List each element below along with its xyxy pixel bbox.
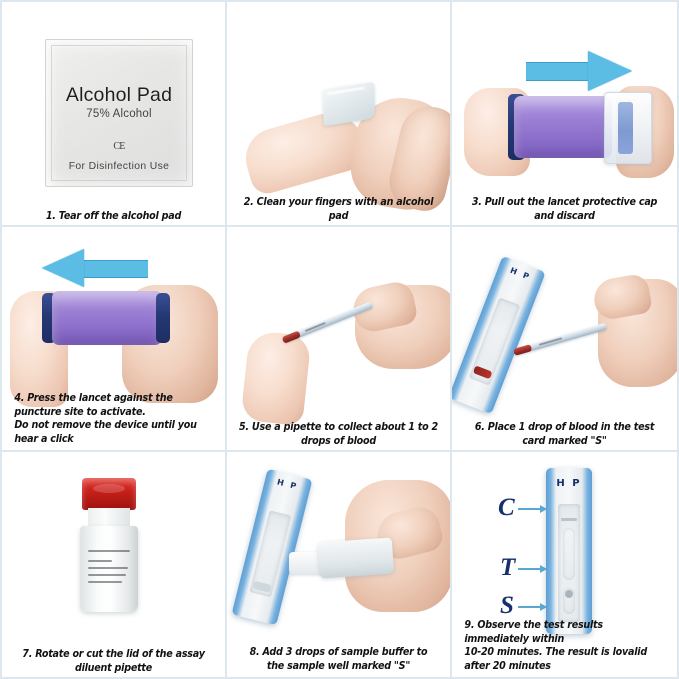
panel-9-caption-line1: 9. Observe the test results immediately … bbox=[464, 620, 602, 645]
instruction-sheet: Alcohol Pad 75% Alcohol CE For Disinfect… bbox=[0, 0, 679, 679]
panel-step-2: 2. Clean your fingers with an alcohol pa… bbox=[227, 2, 452, 227]
pipette-fill-line bbox=[539, 337, 563, 346]
sample-zone-label: S bbox=[500, 592, 514, 620]
packet-brand-text: Alcohol Pad bbox=[46, 84, 192, 107]
panel-step-8: H P 8. Add 3 drops of sample buffer to t… bbox=[227, 452, 452, 677]
panel-3-illustration bbox=[452, 2, 677, 183]
panel-step-9: H P C T S 9. Observe the test results im… bbox=[452, 452, 677, 677]
panel-8-illustration: H P bbox=[227, 452, 450, 623]
panel-step-4: 4. Press the lancet against the puncture… bbox=[2, 227, 227, 452]
lancet-body bbox=[514, 96, 612, 158]
test-zone-arrow bbox=[518, 568, 546, 570]
panel-8-caption-line1: 8. Add 3 drops of sample buffer to bbox=[250, 647, 428, 658]
panel-step-5: 5. Use a pipette to collect about 1 to 2… bbox=[227, 227, 452, 452]
buffer-bottle-body bbox=[318, 537, 394, 578]
cassette-brand-label: H P bbox=[264, 474, 311, 494]
panel-9-caption-line2: 10-20 minutes. The result is lovalid aft… bbox=[464, 647, 647, 672]
sample-zone-arrow bbox=[518, 606, 546, 608]
panel-4-caption-line2: Do not remove the device until you hear … bbox=[14, 420, 196, 445]
panel-8-caption-line2: the sample well marked "S" bbox=[267, 661, 410, 672]
test-zone-label: T bbox=[500, 554, 515, 582]
lancet-protective-cap bbox=[604, 92, 652, 164]
lancet-end-cap-right bbox=[156, 293, 170, 343]
panel-6-caption: 6. Place 1 drop of blood in the test car… bbox=[459, 421, 671, 448]
bottle-label-line bbox=[88, 550, 130, 552]
panel-step-3: 3. Pull out the lancet protective cap an… bbox=[452, 2, 677, 227]
panel-5-illustration bbox=[227, 227, 450, 408]
bottle-label-line bbox=[88, 560, 112, 562]
pipette-fill-line bbox=[305, 322, 326, 332]
alcohol-pad-packet: Alcohol Pad 75% Alcohol CE For Disinfect… bbox=[45, 39, 193, 187]
panel-2-illustration bbox=[227, 2, 450, 183]
pull-right-arrow bbox=[526, 50, 636, 90]
assay-diluent-bottle bbox=[2, 452, 225, 635]
test-cassette: H P bbox=[546, 468, 592, 634]
test-line-region bbox=[563, 528, 575, 580]
packet-usage-text: For Disinfection Use bbox=[46, 161, 192, 172]
panel-3-caption: 3. Pull out the lancet protective cap an… bbox=[459, 196, 671, 223]
panel-7-caption: 7. Rotate or cut the lid of the assay di… bbox=[9, 648, 219, 675]
panel-5-caption: 5. Use a pipette to collect about 1 to 2… bbox=[234, 421, 444, 448]
press-left-arrow bbox=[44, 249, 148, 287]
bottle-red-cap bbox=[82, 478, 136, 510]
bottle-label-line bbox=[88, 574, 126, 576]
bottle-body bbox=[80, 526, 138, 612]
panel-1-illustration: Alcohol Pad 75% Alcohol CE For Disinfect… bbox=[2, 2, 225, 183]
panel-2-caption: 2. Clean your fingers with an alcohol pa… bbox=[234, 196, 444, 223]
control-line bbox=[561, 518, 577, 521]
bottle-label-line bbox=[88, 581, 122, 583]
pipette bbox=[513, 323, 607, 356]
panel-7-illustration bbox=[2, 452, 225, 635]
control-zone-label: C bbox=[498, 494, 515, 522]
panel-9-caption: 9. Observe the test results immediately … bbox=[459, 619, 671, 673]
panel-step-7: 7. Rotate or cut the lid of the assay di… bbox=[2, 452, 227, 677]
panel-step-6: H P 6. Place 1 drop of blood in the test… bbox=[452, 227, 677, 452]
test-cassette: H P bbox=[452, 256, 546, 414]
bottle-label-line bbox=[88, 567, 128, 569]
panel-6-illustration: H P bbox=[452, 227, 677, 408]
cassette-brand-label: H P bbox=[497, 261, 543, 286]
panel-9-illustration: H P C T S bbox=[452, 452, 677, 623]
panel-4-caption-line1: 4. Press the lancet against the puncture… bbox=[14, 393, 172, 418]
cassette-brand-label: H P bbox=[546, 478, 592, 489]
panel-4-illustration bbox=[2, 227, 225, 396]
panel-4-caption: 4. Press the lancet against the puncture… bbox=[9, 392, 219, 446]
sample-well-dot bbox=[565, 590, 573, 598]
lancet-body bbox=[52, 291, 162, 345]
control-zone-arrow bbox=[518, 508, 546, 510]
panel-1-caption: 1. Tear off the alcohol pad bbox=[9, 210, 219, 224]
instruction-grid: Alcohol Pad 75% Alcohol CE For Disinfect… bbox=[2, 2, 677, 677]
test-cassette: H P bbox=[232, 469, 313, 626]
packet-concentration-text: 75% Alcohol bbox=[46, 108, 192, 120]
panel-8-caption: 8. Add 3 drops of sample buffer to the s… bbox=[234, 646, 444, 673]
ce-mark: CE bbox=[46, 141, 192, 152]
panel-step-1: Alcohol Pad 75% Alcohol CE For Disinfect… bbox=[2, 2, 227, 227]
left-finger-drop-site bbox=[240, 330, 311, 426]
